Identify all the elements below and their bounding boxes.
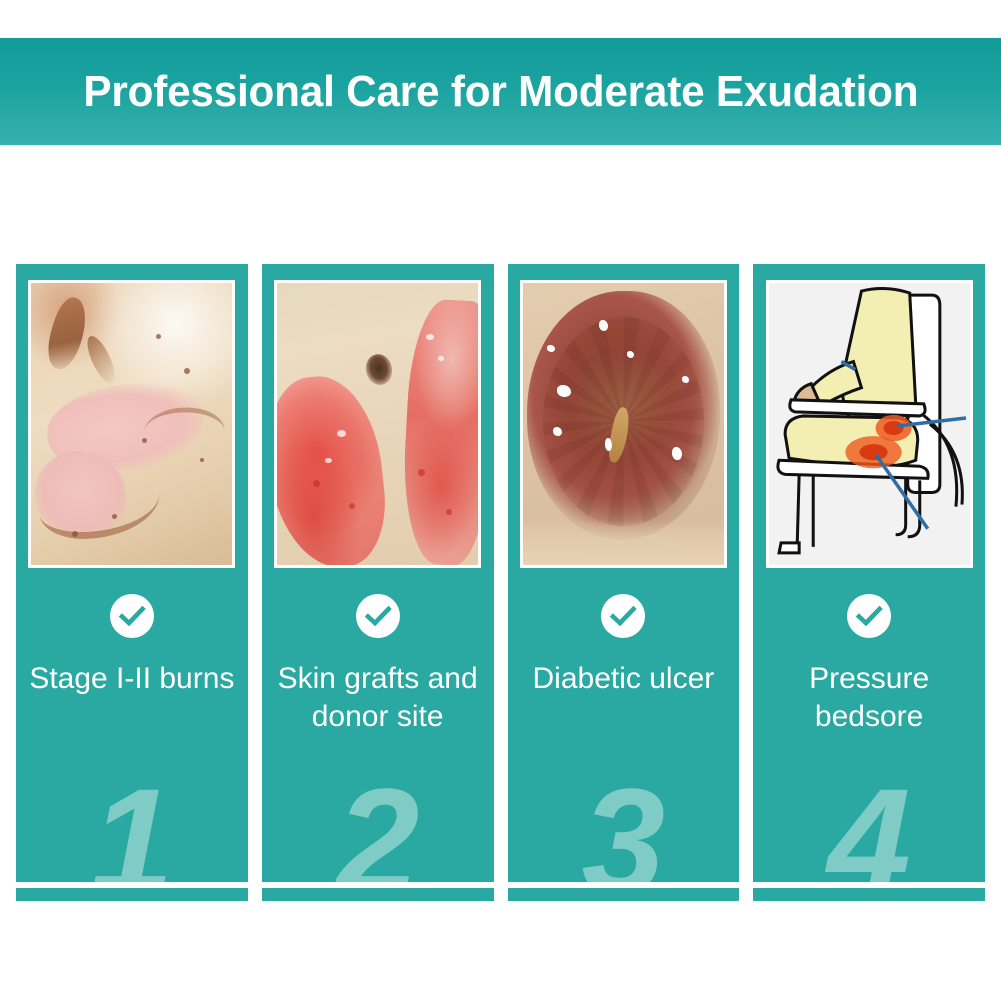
photo-frame-2 <box>274 280 481 568</box>
photo-frame-4 <box>766 280 973 568</box>
card-column-3: Diabetic ulcer 3 <box>508 264 740 901</box>
header-banner: Professional Care for Moderate Exudation <box>0 38 1001 145</box>
check-circle-icon <box>847 594 891 638</box>
card-number-4: 4 <box>753 766 985 882</box>
check-circle-icon <box>601 594 645 638</box>
card-number-2: 2 <box>262 766 494 882</box>
card-label-3: Diabetic ulcer <box>523 660 725 698</box>
photo-frame-3 <box>520 280 727 568</box>
card-label-4: Pressure bedsore <box>753 660 985 737</box>
diabetic-ulcer-photo <box>523 283 724 565</box>
card-number-1: 1 <box>16 766 248 882</box>
pressure-bedsore-illustration <box>769 283 970 565</box>
card-number-3: 3 <box>508 766 740 882</box>
indication-card-diabetic-ulcer[interactable]: Diabetic ulcer 3 <box>508 264 740 882</box>
photo-frame-1 <box>28 280 235 568</box>
card-column-1: Stage I-II burns 1 <box>16 264 248 901</box>
card-column-4: Pressure bedsore 4 <box>753 264 985 901</box>
card-label-2: Skin grafts and donor site <box>262 660 494 737</box>
indication-card-row: Stage I-II burns 1 <box>16 264 985 901</box>
indication-card-burns[interactable]: Stage I-II burns 1 <box>16 264 248 882</box>
skin-graft-donor-site-photo <box>277 283 478 565</box>
indication-card-pressure-bedsore[interactable]: Pressure bedsore 4 <box>753 264 985 882</box>
page-title: Professional Care for Moderate Exudation <box>83 70 918 114</box>
check-circle-icon <box>110 594 154 638</box>
card-bottom-bar-1 <box>16 888 248 901</box>
card-bottom-bar-4 <box>753 888 985 901</box>
card-column-2: Skin grafts and donor site 2 <box>262 264 494 901</box>
card-label-1: Stage I-II burns <box>19 660 244 698</box>
card-bottom-bar-3 <box>508 888 740 901</box>
burn-wound-photo <box>31 283 232 565</box>
indication-card-skin-grafts[interactable]: Skin grafts and donor site 2 <box>262 264 494 882</box>
check-circle-icon <box>356 594 400 638</box>
card-bottom-bar-2 <box>262 888 494 901</box>
